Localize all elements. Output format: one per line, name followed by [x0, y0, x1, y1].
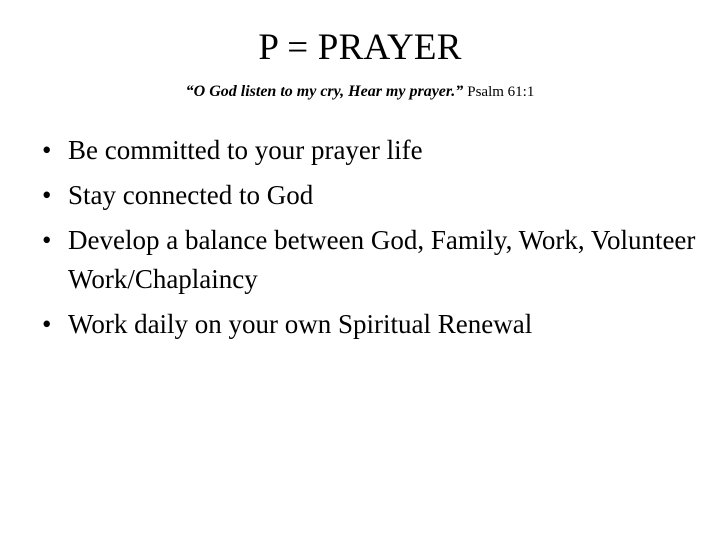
scripture-reference: Psalm 61:1: [463, 84, 534, 100]
list-item: • Develop a balance between God, Family,…: [34, 221, 704, 299]
list-item-label: Be committed to your prayer life: [68, 131, 704, 170]
page-title: P = PRAYER: [0, 28, 720, 68]
scripture-subtitle: “O God listen to my cry, Hear my prayer.…: [0, 83, 720, 101]
bullet-icon: •: [42, 221, 51, 260]
presentation-slide: P = PRAYER “O God listen to my cry, Hear…: [0, 0, 720, 540]
bullet-list: • Be committed to your prayer life • Sta…: [34, 131, 704, 350]
list-item: • Stay connected to God: [34, 176, 704, 215]
scripture-quote: “O God listen to my cry, Hear my prayer.…: [186, 83, 464, 100]
list-item-label: Stay connected to God: [68, 176, 704, 215]
list-item: • Work daily on your own Spiritual Renew…: [34, 305, 704, 344]
list-item-label: Develop a balance between God, Family, W…: [68, 221, 704, 299]
bullet-icon: •: [42, 305, 51, 344]
list-item-label: Work daily on your own Spiritual Renewal: [68, 305, 704, 344]
list-item: • Be committed to your prayer life: [34, 131, 704, 170]
bullet-icon: •: [42, 131, 51, 170]
bullet-icon: •: [42, 176, 51, 215]
